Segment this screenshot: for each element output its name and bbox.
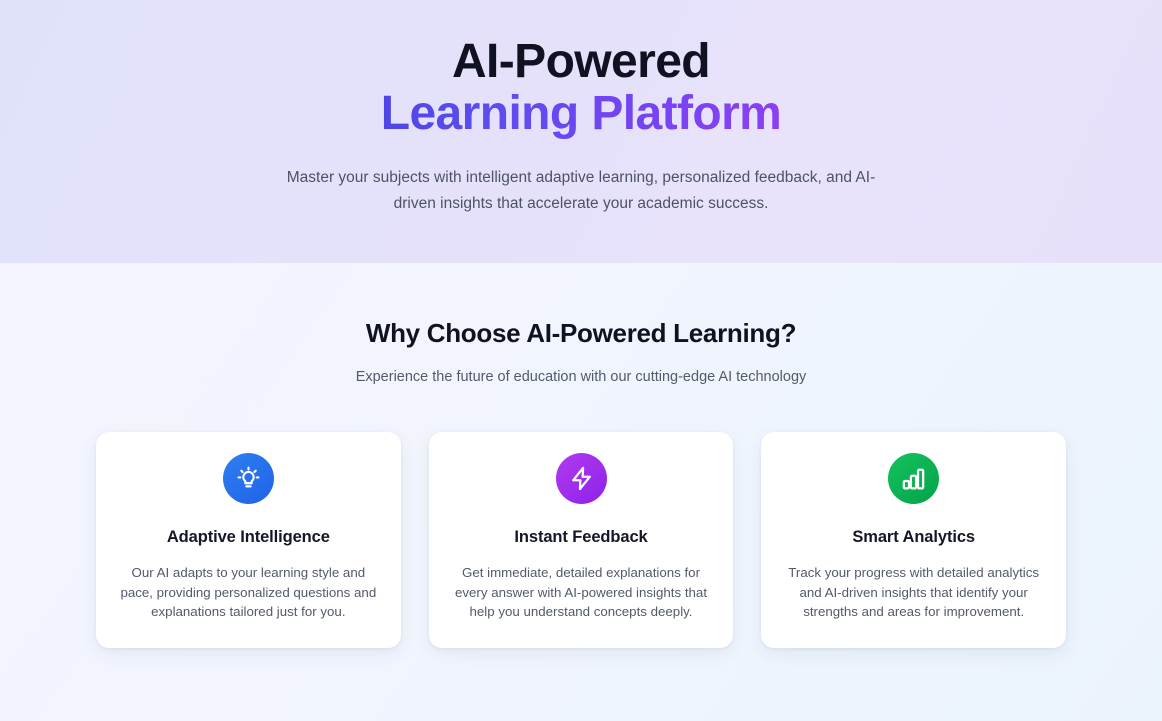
feature-card-description: Track your progress with detailed analyt… [785,563,1042,622]
feature-card-instant-feedback[interactable]: Instant Feedback Get immediate, detailed… [429,432,734,648]
feature-card-description: Our AI adapts to your learning style and… [120,563,377,622]
feature-card-title: Adaptive Intelligence [167,528,330,547]
hero-section: AI-Powered Learning Platform Master your… [0,0,1162,263]
feature-card-adaptive-intelligence[interactable]: Adaptive Intelligence Our AI adapts to y… [96,432,401,648]
features-heading: Why Choose AI-Powered Learning? [366,318,796,349]
feature-card-list: Adaptive Intelligence Our AI adapts to y… [96,432,1066,648]
page-title: AI-Powered Learning Platform [381,38,782,142]
page-title-line-2: Learning Platform [381,90,782,142]
page-title-line-1: AI-Powered [381,38,782,86]
feature-card-title: Instant Feedback [514,528,647,547]
feature-card-description: Get immediate, detailed explanations for… [453,563,710,622]
features-section: Why Choose AI-Powered Learning? Experien… [0,263,1162,721]
features-subheading: Experience the future of education with … [356,369,807,385]
hero-subtitle: Master your subjects with intelligent ad… [270,165,892,217]
feature-card-title: Smart Analytics [852,528,975,547]
feature-card-smart-analytics[interactable]: Smart Analytics Track your progress with… [761,432,1066,648]
bar-chart-icon [888,453,939,504]
lightning-bolt-icon [556,453,607,504]
landing-page: AI-Powered Learning Platform Master your… [0,0,1162,721]
lightbulb-icon [223,453,274,504]
